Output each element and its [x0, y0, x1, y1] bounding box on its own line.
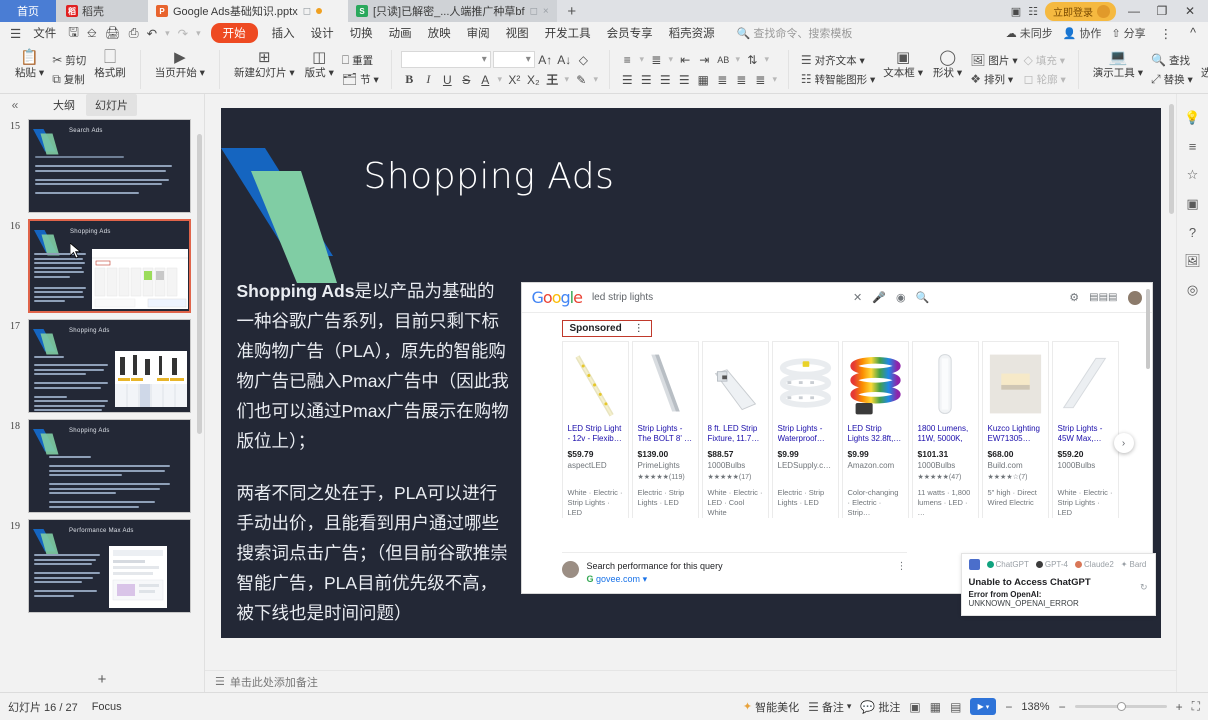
text-color-icon[interactable]: A	[477, 71, 494, 88]
para-row-bottom: ☰ ☰ ☰ ☰ ▦ ≣ ≣ ≣ ▾	[619, 71, 779, 88]
comments-toggle-button[interactable]: 💬批注	[860, 699, 900, 715]
slide-number: 16	[10, 221, 20, 232]
menu-start[interactable]: 开始	[211, 23, 258, 43]
chevron-right-icon: ›	[1122, 438, 1125, 449]
collaborate-button[interactable]: 👤协作	[1063, 25, 1102, 41]
list-item[interactable]: 16 Shopping Ads	[0, 219, 204, 313]
paste-button[interactable]: 📋 粘贴 ▾	[10, 46, 49, 93]
person-add-icon: 👤	[1063, 27, 1077, 40]
sparkle-icon: ✦	[743, 700, 752, 713]
product-title[interactable]: LED Strip Light - 12v - Flexib…	[568, 424, 623, 444]
product-image	[708, 346, 763, 421]
chat-assistant-overlay[interactable]: ChatGPT GPT-4 Claude2 ✦Bard ↻ Unable to …	[961, 553, 1156, 616]
product-image	[568, 346, 623, 421]
textbox-icon: ▣	[896, 48, 910, 67]
claude-dot-icon	[1075, 561, 1082, 568]
product-price: $139.00	[638, 449, 693, 459]
zoom-decrease-icon[interactable]: −	[1059, 700, 1066, 714]
picture-icon: 🖼	[970, 53, 985, 67]
outline-button[interactable]: ◻轮廓 ▾	[1021, 71, 1069, 88]
ribbon-divider	[788, 50, 789, 89]
ribbon-graphic-icon	[33, 426, 63, 456]
search-performance-site[interactable]: G govee.com ▾	[587, 574, 723, 585]
chat-error-title: Unable to Access ChatGPT	[969, 577, 1148, 588]
slide-canvas[interactable]: Shopping Ads Shopping Ads是以产品为基础的一种谷歌广告系…	[221, 108, 1161, 638]
ribbon-group-slides: ⊞ 新建幻灯片 ▾ ◫ 版式 ▾ ⎕重置 🗂节 ▾	[225, 46, 386, 93]
product-rating	[568, 473, 623, 482]
bold-icon[interactable]: B	[401, 71, 418, 88]
maximize-button[interactable]: ❐	[1152, 4, 1172, 18]
menu-devtools[interactable]: 开发工具	[537, 23, 599, 43]
zoom-increase-icon[interactable]: +	[1176, 700, 1183, 714]
cloud-icon: ☁	[1006, 27, 1017, 40]
chevron-down-icon: ▾	[526, 54, 531, 65]
menu-view[interactable]: 视图	[498, 23, 537, 43]
fit-to-window-icon[interactable]: ⛶	[1192, 699, 1200, 714]
subscript-icon[interactable]: X₂	[525, 71, 542, 88]
comment-icon: 💬	[860, 700, 875, 714]
microphone-icon[interactable]: 🎤	[872, 291, 886, 304]
avatar[interactable]	[1128, 291, 1142, 305]
status-bar: 幻灯片 16 / 27 Focus ✦智能美化 ☰备注▾ 💬批注 ▣ ▦ ▤ ▶…	[0, 692, 1208, 720]
new-slide-icon: ⊞	[258, 48, 271, 67]
chevron-down-icon[interactable]: ▾	[638, 51, 646, 68]
slide-number: 18	[10, 421, 20, 432]
ribbon-group-slideshow: ▶ 当页开始 ▾	[146, 46, 214, 93]
tab-pptx-label: Google Ads基础知识.pptx	[173, 3, 298, 19]
slide-canvas-area[interactable]: Shopping Ads Shopping Ads是以产品为基础的一种谷歌广告系…	[205, 94, 1176, 670]
avatar	[1097, 5, 1110, 18]
gpt4-dot-icon	[1036, 561, 1043, 568]
close-button[interactable]: ✕	[1180, 4, 1200, 18]
product-merchant: Build.com	[988, 461, 1043, 470]
product-image	[778, 346, 833, 421]
clipboard-icon: 📋	[20, 48, 39, 67]
ribbon-group-font: ▾ ▾ A↑ A↓ ◇ B I U S A ▾ X² X₂ 王 ▾ ✎ ▾	[397, 46, 604, 93]
unsaved-dot-icon	[316, 8, 322, 14]
slide-thumbnail[interactable]: Shopping Ads	[28, 219, 191, 313]
share-button[interactable]: ⇧分享	[1111, 25, 1145, 41]
select-button[interactable]: ⎋ 选择 ▾	[1196, 46, 1208, 93]
print-icon[interactable]: 🖨	[101, 26, 125, 41]
undo-icon[interactable]: ↶	[143, 26, 161, 41]
customize-qat-icon[interactable]: ▾	[192, 28, 205, 39]
clear-query-icon[interactable]: ✕	[853, 291, 862, 304]
ribbon-divider	[391, 50, 392, 89]
product-merchant: 1000Bulbs	[1058, 461, 1113, 470]
tab-claude2[interactable]: Claude2	[1075, 560, 1114, 569]
thumb-title: Shopping Ads	[69, 428, 110, 434]
numbered-list-icon[interactable]: ≣	[648, 51, 665, 68]
notes-toggle-button[interactable]: ☰备注▾	[808, 699, 851, 715]
grid-view-icon[interactable]: ☷	[1028, 5, 1037, 18]
minimize-button[interactable]: —	[1124, 4, 1144, 18]
paintbrush-icon: 🗌	[104, 48, 116, 67]
product-attributes: 11 watts · 1,800 lumens · LED · …	[918, 488, 973, 518]
image-tools-icon[interactable]: 🖼	[1184, 253, 1201, 269]
present-tools-button[interactable]: 💻 演示工具 ▾	[1088, 46, 1148, 93]
outline-icon: ◻	[1024, 72, 1034, 86]
cast-icon[interactable]: ◻	[303, 6, 311, 17]
product-price: $9.99	[848, 449, 903, 459]
product-image	[918, 346, 973, 421]
notes-pane[interactable]: ☰ 单击此处添加备注	[205, 670, 1176, 692]
menu-member[interactable]: 会员专享	[599, 23, 661, 43]
tab-chatgpt[interactable]: ChatGPT	[987, 560, 1029, 569]
product-price: $59.20	[1058, 449, 1113, 459]
italic-icon[interactable]: I	[420, 71, 437, 88]
slide-counter: 幻灯片 16 / 27	[8, 699, 78, 715]
slide-panel-scrollbar[interactable]	[197, 134, 202, 434]
list-item[interactable]: Kuzco Lighting EW71305… $68.00 Build.com…	[982, 341, 1049, 518]
product-rating	[848, 473, 903, 482]
ribbon-graphic-icon	[33, 326, 63, 356]
window-controls: ▣ ☷ 立即登录 — ❐ ✕	[1011, 0, 1208, 22]
list-item[interactable]: 17 Shopping Ads	[0, 319, 204, 413]
product-title[interactable]: 8 ft. LED Strip Fixture, 11.7…	[708, 424, 763, 444]
search-icon: 🔍	[1151, 53, 1166, 67]
undo-dropdown-icon[interactable]: ▾	[161, 28, 174, 39]
underline-icon[interactable]: U	[439, 71, 456, 88]
more-options-icon[interactable]: ⋮	[1156, 26, 1177, 41]
focus-mode-label[interactable]: Focus	[92, 701, 122, 713]
para-row-top: ≡ ▾ ≣ ▾ ⇤ ⇥ AB ▾ ⇅ ▾	[619, 51, 779, 68]
tab-xlsx[interactable]: S [只读]已解密_...人端推广种草bf ◻ ×	[348, 0, 557, 22]
chevron-down-icon: ▾	[482, 54, 487, 65]
clear-format-icon[interactable]: ◇	[575, 51, 592, 68]
picture-button[interactable]: 🖼图片 ▾	[967, 52, 1020, 69]
increase-indent-icon[interactable]: ⇥	[696, 51, 713, 68]
slide-thumbnail-panel: « 大纲 幻灯片 15 Search Ads	[0, 94, 205, 692]
text-direction-icon[interactable]: ⇅	[744, 51, 761, 68]
slide-thumbnail[interactable]: Shopping Ads	[28, 319, 191, 413]
help-icon[interactable]: ?	[1189, 225, 1196, 240]
list-item[interactable]: Strip Lights - Waterproof… $9.99 LEDSupp…	[772, 341, 839, 518]
chevron-down-icon[interactable]: ▾	[592, 71, 600, 88]
decrease-font-size-icon[interactable]: A↓	[556, 51, 573, 68]
thumb-chart-art	[115, 351, 187, 407]
menu-docer[interactable]: 稻壳资源	[661, 23, 723, 43]
reading-view-icon[interactable]: ▤	[950, 700, 961, 714]
ribbon-group-clipboard: 📋 粘贴 ▾ ✂剪切 ⧉复制 🗌 格式刷	[6, 46, 135, 93]
product-title[interactable]: Strip Lights - 45W Max,…	[1058, 424, 1113, 444]
copy-button[interactable]: ⧉复制	[49, 71, 89, 88]
slide-list[interactable]: 15 Search Ads	[0, 116, 204, 666]
tab-xlsx-label: [只读]已解密_...人端推广种草bf	[373, 3, 525, 19]
product-price: $68.00	[988, 449, 1043, 459]
right-sidebar: 💡 ≡ ☆ ▣ ? 🖼 ◎	[1176, 94, 1208, 692]
smartart-icon: ☷	[801, 72, 812, 86]
product-attributes: White · Electric · LED · Cool White	[708, 488, 763, 518]
column-icon[interactable]: ≣	[714, 71, 731, 88]
play-circle-icon: ▶	[174, 48, 186, 67]
search-icon[interactable]: 🔍	[916, 291, 930, 304]
menu-animation[interactable]: 动画	[381, 23, 420, 43]
search-performance-row[interactable]: Search performance for this query G gove…	[562, 552, 907, 585]
strikethrough-icon[interactable]: S	[458, 71, 475, 88]
product-rating	[1058, 473, 1113, 482]
ribbon-divider	[140, 50, 141, 89]
tab-bard[interactable]: ✦Bard	[1121, 560, 1147, 569]
new-slide-button[interactable]: ⊞ 新建幻灯片 ▾	[229, 46, 300, 93]
menu-insert[interactable]: 插入	[264, 23, 303, 43]
align-left-icon[interactable]: ☰	[619, 71, 636, 88]
google-logo-icon: Google	[532, 288, 582, 307]
list-item[interactable]: 1800 Lumens, 11W, 5000K, … $101.31 1000B…	[912, 341, 979, 518]
search-icon: 🔍	[737, 27, 751, 40]
layout-icon: ◫	[312, 48, 326, 67]
fill-icon: ◇	[1024, 53, 1033, 67]
scissors-icon: ✂	[52, 53, 62, 67]
shapes-icon: ◯	[939, 48, 956, 67]
menu-review[interactable]: 审阅	[459, 23, 498, 43]
slide-paragraph-1-bold: Shopping Ads	[237, 281, 355, 301]
replace-icon: ⤢	[1151, 72, 1161, 87]
location-icon[interactable]: ◎	[1187, 282, 1198, 298]
distribute-icon[interactable]: ▦	[695, 71, 712, 88]
layout-button[interactable]: ◫ 版式 ▾	[300, 46, 339, 93]
product-title[interactable]: Strip Lights - The BOLT 8' …	[638, 424, 693, 444]
copy-icon: ⧉	[52, 72, 61, 87]
chevron-down-icon[interactable]: ▾	[734, 51, 742, 68]
product-title[interactable]: 1800 Lumens, 11W, 5000K, …	[918, 424, 973, 444]
new-tab-button[interactable]: +	[557, 0, 587, 22]
chevron-down-icon[interactable]: ▾	[563, 71, 571, 88]
line-height-icon[interactable]: ≣	[733, 71, 750, 88]
decrease-indent-icon[interactable]: ⇤	[677, 51, 694, 68]
sync-status[interactable]: ☁未同步	[1006, 25, 1053, 41]
shape-button[interactable]: ◯ 形状 ▾	[928, 46, 967, 93]
window-tabbar: 首页 稻 稻壳 P Google Ads基础知识.pptx ◻ S [只读]已解…	[0, 0, 1208, 22]
export-pdf-icon[interactable]: ⎒	[83, 26, 101, 41]
slide-thumbnail[interactable]: Performance Max Ads	[28, 519, 191, 613]
ribbon-divider	[609, 50, 610, 89]
zoom-level[interactable]: 138%	[1021, 701, 1049, 713]
tab-docer[interactable]: 稻 稻壳	[56, 0, 148, 22]
design-ideas-icon[interactable]: 💡	[1184, 110, 1200, 126]
align-text-button[interactable]: ☰对齐文本 ▾	[798, 52, 878, 69]
menubar: ☰ 文件 🖫 ⎒ 🖨 ⎙ ↶ ▾ ↷ ▾ 开始 插入 设计 切换 动画 放映 审…	[0, 22, 1208, 44]
chevron-down-icon[interactable]: ▾	[763, 51, 771, 68]
increase-font-size-icon[interactable]: A↑	[537, 51, 554, 68]
list-item[interactable]: 18 Shopping Ads	[0, 419, 204, 513]
login-button[interactable]: 立即登录	[1045, 2, 1116, 21]
font-size-select[interactable]: ▾	[493, 51, 535, 68]
menu-design[interactable]: 设计	[303, 23, 342, 43]
command-search[interactable]: 🔍 查找命令、搜索模板	[737, 25, 853, 41]
cut-button[interactable]: ✂剪切	[49, 52, 89, 69]
google-apps-icon[interactable]: ▤▤▤	[1089, 292, 1117, 303]
product-price: $9.99	[778, 449, 833, 459]
bullet-list-icon[interactable]: ≡	[619, 51, 636, 68]
product-rating: ★★★★☆(7)	[988, 473, 1043, 482]
workspace: « 大纲 幻灯片 15 Search Ads	[0, 94, 1208, 692]
collapse-ribbon-icon[interactable]: ^	[1186, 26, 1200, 40]
slide-title: Shopping Ads	[364, 156, 615, 197]
product-attributes: Color-changing · Electric · Strip…	[848, 488, 903, 518]
google-query-text[interactable]: led strip lights	[592, 292, 843, 303]
font-row-bottom: B I U S A ▾ X² X₂ 王 ▾ ✎ ▾	[401, 71, 600, 88]
list-item[interactable]: LED Strip Light - 12v - Flexib… $59.79 a…	[562, 341, 629, 518]
chevron-down-icon[interactable]: ▾	[667, 51, 675, 68]
list-item[interactable]: 19 Performance Max Ads	[0, 519, 204, 613]
hamburger-icon[interactable]: ☰	[6, 26, 25, 41]
carousel-next-button[interactable]: ›	[1114, 433, 1134, 453]
split-view-icon[interactable]: ▣	[1011, 5, 1020, 18]
chevron-down-icon[interactable]: ▾	[496, 71, 504, 88]
product-attributes: 5" high · Direct Wired Electric	[988, 488, 1043, 508]
align-tools-icon[interactable]: ≡	[1189, 139, 1197, 154]
find-button[interactable]: 🔍查找	[1148, 52, 1196, 69]
product-merchant: LEDSupply.c…	[778, 461, 833, 470]
start-from-page-button[interactable]: ▶ 当页开始 ▾	[150, 46, 210, 93]
thumb-inner-screenshot	[92, 249, 188, 309]
reset-button[interactable]: ⎕重置	[339, 52, 382, 69]
notes-icon: ☰	[215, 675, 225, 688]
reset-icon: ⎕	[342, 53, 349, 68]
tab-home[interactable]: 首页	[0, 0, 56, 22]
product-price: $59.79	[568, 449, 623, 459]
align-center-icon[interactable]: ☰	[638, 71, 655, 88]
product-merchant: aspectLED	[568, 461, 623, 470]
font-family-select[interactable]: ▾	[401, 51, 491, 68]
google-g-icon: G	[587, 574, 594, 584]
slide-number: 19	[10, 521, 20, 532]
convert-smartart-button[interactable]: ☷转智能图形 ▾	[798, 71, 878, 88]
text-effect-icon[interactable]: 王	[544, 71, 561, 88]
product-image	[988, 346, 1043, 421]
share-icon: ⇧	[1111, 27, 1120, 40]
tab-slides[interactable]: 幻灯片	[86, 94, 137, 116]
fill-button[interactable]: ◇填充 ▾	[1021, 52, 1069, 69]
search-performance-title: Search performance for this query	[587, 561, 723, 571]
textbox-button[interactable]: ▣ 文本框 ▾	[878, 46, 928, 93]
chat-error-detail: Error from OpenAI: UNKNOWN_OPENAI_ERROR	[969, 590, 1148, 608]
slide-body-text[interactable]: Shopping Ads是以产品为基础的一种谷歌广告系列，目前只剩下标准购物广告…	[237, 276, 512, 638]
google-search-bar: Google led strip lights ✕ 🎤 ◉ 🔍 ⚙ ▤▤▤	[522, 283, 1152, 313]
slide-thumbnail[interactable]: Shopping Ads	[28, 419, 191, 513]
menu-file[interactable]: 文件	[25, 23, 64, 43]
normal-view-icon[interactable]: ▣	[909, 700, 920, 714]
highlight-icon[interactable]: ✎	[573, 71, 590, 88]
kebab-icon[interactable]: ⋮	[634, 323, 644, 334]
notes-icon: ☰	[808, 700, 819, 714]
product-attributes: Electric · Strip Lights · LED	[638, 488, 693, 508]
slide-sorter-icon[interactable]: ▦	[930, 700, 941, 714]
list-item[interactable]: Strip Lights - 45W Max,… $59.20 1000Bulb…	[1052, 341, 1119, 518]
favorites-icon[interactable]: ☆	[1187, 167, 1199, 183]
docer-icon: 稻	[66, 5, 78, 17]
camera-icon[interactable]: ◉	[896, 291, 906, 304]
list-item[interactable]: 8 ft. LED Strip Fixture, 11.7… $88.57 10…	[702, 341, 769, 518]
smart-beautify-button[interactable]: ✦智能美化	[743, 699, 799, 715]
zoom-slider[interactable]	[1075, 705, 1167, 708]
font-row-top: ▾ ▾ A↑ A↓ ◇	[401, 51, 600, 68]
ribbon-divider	[219, 50, 220, 89]
justify-icon[interactable]: ☰	[676, 71, 693, 88]
sponsored-badge[interactable]: Sponsored ⋮	[562, 320, 652, 337]
product-image	[848, 346, 903, 421]
align-right-icon[interactable]: ☰	[657, 71, 674, 88]
chevron-down-icon[interactable]: ▾	[771, 71, 779, 88]
format-painter-button[interactable]: 🗌 格式刷	[89, 46, 131, 93]
menu-slideshow[interactable]: 放映	[420, 23, 459, 43]
section-button[interactable]: 🗂节 ▾	[339, 71, 382, 88]
product-title[interactable]: Strip Lights - Waterproof…	[778, 424, 833, 444]
zoom-out-button[interactable]: −	[1005, 700, 1012, 714]
list-item[interactable]: Strip Lights - The BOLT 8' … $139.00 Pri…	[632, 341, 699, 518]
redo-icon[interactable]: ↷	[174, 26, 192, 41]
menu-transition[interactable]: 切换	[342, 23, 381, 43]
collapse-panel-icon[interactable]: «	[4, 98, 26, 112]
layout-panel-icon[interactable]: ▣	[1186, 196, 1198, 212]
kebab-icon[interactable]: ⋮	[897, 561, 907, 572]
product-attributes: White · Electric · Strip Lights · LED	[568, 488, 623, 518]
refresh-icon[interactable]: ↻	[1140, 582, 1148, 593]
product-merchant: 1000Bulbs	[918, 461, 973, 470]
slide-number: 17	[10, 321, 20, 332]
line-spacing-icon[interactable]: AB	[715, 51, 732, 68]
thumb-title: Shopping Ads	[69, 328, 110, 334]
powerpoint-icon: P	[156, 5, 168, 17]
superscript-icon[interactable]: X²	[506, 71, 523, 88]
assistant-logo-icon	[969, 559, 980, 570]
product-image	[638, 346, 693, 421]
slideshow-button[interactable]: ▶▾	[970, 698, 996, 715]
add-slide-button[interactable]: +	[0, 666, 204, 692]
google-shopping-screenshot[interactable]: Google led strip lights ✕ 🎤 ◉ 🔍 ⚙ ▤▤▤	[522, 283, 1152, 593]
thumb-ui-art	[109, 546, 167, 608]
product-image	[1058, 346, 1113, 421]
slide-paragraph-1-rest: 是以产品为基础的一种谷歌广告系列，目前只剩下标准购物广告（PLA），原先的智能购…	[237, 281, 509, 451]
close-tab-icon[interactable]: ×	[543, 6, 549, 17]
section-icon: 🗂	[342, 72, 357, 86]
print-preview-icon[interactable]: ⎙	[125, 26, 143, 41]
product-carousel[interactable]: LED Strip Light - 12v - Flexib… $59.79 a…	[522, 341, 1152, 518]
arrange-button[interactable]: ❖排列 ▾	[967, 71, 1020, 88]
tab-outline[interactable]: 大纲	[44, 94, 84, 116]
product-merchant: PrimeLights	[638, 461, 693, 470]
ribbon-group-tools: 💻 演示工具 ▾ 🔍查找 ⤢替换 ▾ ⎋ 选择 ▾	[1084, 46, 1208, 93]
slide-thumbnail[interactable]: Search Ads	[28, 119, 191, 213]
spreadsheet-icon: S	[356, 5, 368, 17]
slide-paragraph-2: 两者不同之处在于，PLA可以进行手动出价，且能看到用户通过哪些搜索词点击广告；（…	[237, 478, 512, 628]
settings-gear-icon[interactable]: ⚙	[1069, 291, 1079, 304]
product-merchant: Amazon.com	[848, 461, 903, 470]
zoom-slider-handle[interactable]	[1117, 702, 1126, 711]
product-title[interactable]: LED Strip Lights 32.8ft,…	[848, 424, 903, 444]
tab-docer-label: 稻壳	[82, 3, 104, 19]
present-tools-icon: 💻	[1109, 48, 1128, 67]
screenshot-scrollbar[interactable]	[1146, 289, 1150, 369]
thumb-title: Shopping Ads	[70, 229, 111, 235]
paragraph-spacing-icon[interactable]: ≣	[752, 71, 769, 88]
save-icon[interactable]: 🖫	[64, 23, 83, 44]
product-rating: ★★★★★(17)	[708, 473, 763, 482]
tab-pptx[interactable]: P Google Ads基础知识.pptx ◻	[148, 0, 348, 22]
avatar	[562, 561, 579, 578]
slide-panel-header: « 大纲 幻灯片	[0, 94, 204, 116]
editor-scrollbar[interactable]	[1169, 104, 1174, 214]
tab-gpt4[interactable]: GPT-4	[1036, 560, 1068, 569]
product-title[interactable]: Kuzco Lighting EW71305…	[988, 424, 1043, 444]
list-item[interactable]: 15 Search Ads	[0, 119, 204, 213]
cast-icon[interactable]: ◻	[530, 6, 538, 17]
list-item[interactable]: LED Strip Lights 32.8ft,… $9.99 Amazon.c…	[842, 341, 909, 518]
replace-button[interactable]: ⤢替换 ▾	[1148, 71, 1196, 88]
ribbon-group-paragraph: ≡ ▾ ≣ ▾ ⇤ ⇥ AB ▾ ⇅ ▾ ☰ ☰ ☰ ☰ ▦ ≣ ≣ ≣ ▾	[615, 46, 783, 93]
chat-model-tabs: ChatGPT GPT-4 Claude2 ✦Bard	[969, 559, 1148, 570]
